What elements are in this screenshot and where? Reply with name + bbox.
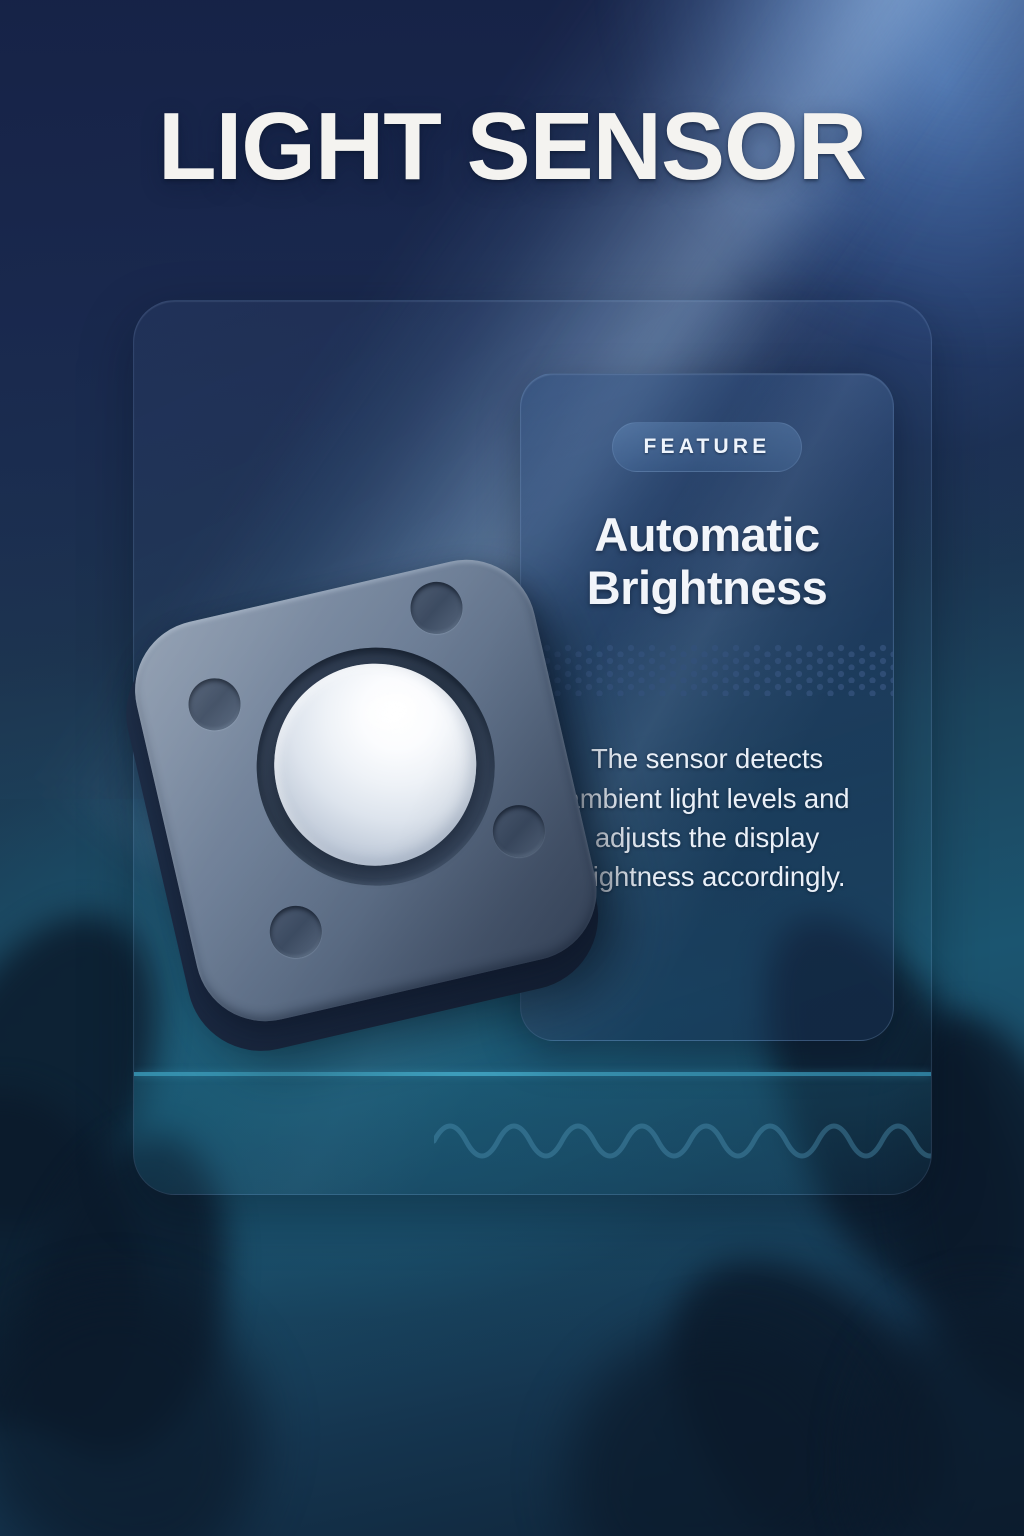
- feature-heading-line-1: Automatic: [551, 508, 863, 561]
- wave-decoration: [434, 1101, 932, 1171]
- screw-hole-top-right: [405, 577, 467, 639]
- dot-grid-decoration: [521, 644, 894, 696]
- screw-hole-bottom-right: [488, 800, 550, 862]
- lens-bezel-ring: [233, 624, 518, 909]
- lens-dome: [254, 644, 496, 886]
- screw-hole-bottom-left: [265, 901, 327, 963]
- feature-heading-line-2: Brightness: [551, 561, 863, 614]
- page-title: LIGHT SENSOR: [0, 92, 1024, 202]
- divider-line: [134, 1072, 931, 1076]
- feature-badge: FEATURE: [612, 422, 801, 472]
- poster-canvas: LIGHT SENSOR FEATURE Automatic Brightnes…: [0, 0, 1024, 1536]
- lens-specular-highlight: [354, 682, 429, 742]
- screw-hole-top-left: [183, 673, 245, 735]
- feature-heading: Automatic Brightness: [551, 508, 863, 614]
